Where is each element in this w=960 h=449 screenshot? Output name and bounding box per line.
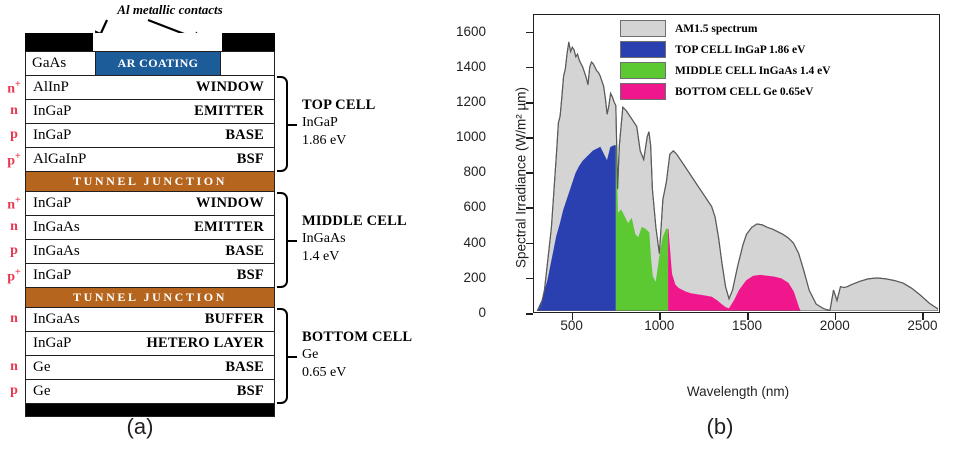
x-tick-label: 500 bbox=[542, 318, 602, 333]
x-axis-label: Wavelength (nm) bbox=[533, 384, 943, 399]
layer-row: AlGaInPBSF bbox=[25, 148, 275, 172]
cell-brace-tick bbox=[288, 124, 297, 126]
doping-label: n+ bbox=[4, 79, 24, 98]
layer-function: BASE bbox=[225, 359, 274, 376]
legend-item-am15: AM1.5 spectrum bbox=[620, 20, 831, 37]
legend-label-bottom-cell: BOTTOM CELL Ge 0.65eV bbox=[675, 86, 813, 98]
layer-material: InGaP bbox=[26, 267, 71, 284]
cell-material: Ge bbox=[302, 346, 412, 364]
x-tick-mark bbox=[747, 313, 749, 320]
x-tick-label: 1500 bbox=[717, 318, 777, 333]
cell-name: MIDDLE CELL bbox=[302, 213, 407, 230]
x-tick-mark bbox=[659, 313, 661, 320]
layer-row: InGaAsEMITTER bbox=[25, 216, 275, 240]
layer-material: Ge bbox=[26, 359, 51, 376]
gaas-ar-coating-row: GaAs AR COATING bbox=[25, 51, 275, 76]
panel-a-device-structure: Al metallic contacts GaAs AR COATING bbox=[0, 0, 470, 449]
cell-name: BOTTOM CELL bbox=[302, 329, 412, 346]
cell-bandgap: 0.65 eV bbox=[302, 364, 412, 382]
y-tick-mark bbox=[526, 67, 533, 69]
y-tick-label: 800 bbox=[426, 164, 486, 179]
y-tick-label: 400 bbox=[426, 235, 486, 250]
al-metallic-contacts-label: Al metallic contacts bbox=[60, 2, 280, 18]
layer-function: WINDOW bbox=[196, 195, 274, 212]
doping-label: p bbox=[4, 383, 24, 399]
layer-material: AlInP bbox=[26, 79, 69, 96]
y-tick-label: 0 bbox=[426, 305, 486, 320]
layer-material: InGaP bbox=[26, 103, 71, 120]
tunnel-junction-2: TUNNEL JUNCTION bbox=[25, 288, 275, 308]
x-tick-mark bbox=[572, 313, 574, 320]
gaas-cap-label: GaAs bbox=[26, 52, 96, 75]
legend-label-top-cell: TOP CELL InGaP 1.86 eV bbox=[675, 44, 805, 56]
doping-label: p bbox=[4, 243, 24, 259]
x-tick-mark bbox=[922, 313, 924, 320]
cell-brace-tick bbox=[288, 356, 297, 358]
legend-swatch-middle-cell bbox=[620, 62, 666, 79]
doping-label: p+ bbox=[4, 151, 24, 170]
metal-contact-left bbox=[25, 33, 93, 51]
layer-row: InGaPWINDOW bbox=[25, 192, 275, 216]
tunnel-junction-1: TUNNEL JUNCTION bbox=[25, 172, 275, 192]
layer-row: InGaAsBASE bbox=[25, 240, 275, 264]
cell-bandgap: 1.4 eV bbox=[302, 248, 407, 266]
caption-a: (a) bbox=[80, 414, 200, 440]
cell-material: InGaAs bbox=[302, 230, 407, 248]
cell-brace bbox=[277, 76, 288, 172]
cell-info-middle: MIDDLE CELLInGaAs1.4 eV bbox=[302, 213, 407, 266]
layer-row: GeBSF bbox=[25, 380, 275, 404]
y-tick-label: 1200 bbox=[426, 94, 486, 109]
legend-label-middle-cell: MIDDLE CELL InGaAs 1.4 eV bbox=[675, 65, 831, 77]
layer-function: HETERO LAYER bbox=[147, 335, 275, 352]
x-tick-label: 2000 bbox=[805, 318, 865, 333]
metal-contact-right bbox=[222, 33, 275, 51]
cell-brace bbox=[277, 308, 288, 404]
y-tick-mark bbox=[526, 313, 533, 315]
layer-row: InGaPHETERO LAYER bbox=[25, 332, 275, 356]
y-tick-label: 1400 bbox=[426, 59, 486, 74]
layer-function: BSF bbox=[237, 151, 274, 168]
layer-row: AlInPWINDOW bbox=[25, 76, 275, 100]
legend-swatch-am15 bbox=[620, 20, 666, 37]
legend-item-bottom-cell: BOTTOM CELL Ge 0.65eV bbox=[620, 83, 831, 100]
layer-material: InGaAs bbox=[26, 243, 80, 260]
y-tick-label: 200 bbox=[426, 270, 486, 285]
legend-item-middle-cell: MIDDLE CELL InGaAs 1.4 eV bbox=[620, 62, 831, 79]
layer-row: InGaAsBUFFER bbox=[25, 308, 275, 332]
layer-function: WINDOW bbox=[196, 79, 274, 96]
layer-row: InGaPBSF bbox=[25, 264, 275, 288]
ar-coating-label: AR COATING bbox=[96, 52, 221, 75]
legend-label-am15: AM1.5 spectrum bbox=[675, 23, 757, 35]
doping-label: p+ bbox=[4, 267, 24, 286]
caption-b: (b) bbox=[660, 414, 780, 440]
chart-legend: AM1.5 spectrum TOP CELL InGaP 1.86 eV MI… bbox=[620, 20, 831, 100]
contact-gap bbox=[93, 33, 222, 51]
ar-row-right-spacer bbox=[221, 52, 274, 75]
legend-item-top-cell: TOP CELL InGaP 1.86 eV bbox=[620, 41, 831, 58]
panel-b-spectral-chart: Spectral Irradiance (W/m² µm) 0200400600… bbox=[470, 0, 960, 449]
layer-function: EMITTER bbox=[194, 219, 274, 236]
doping-label: n+ bbox=[4, 195, 24, 214]
y-tick-mark bbox=[526, 278, 533, 280]
y-tick-mark bbox=[526, 172, 533, 174]
doping-label: n bbox=[4, 311, 24, 327]
y-tick-label: 1600 bbox=[426, 24, 486, 39]
cell-material: InGaP bbox=[302, 114, 375, 132]
layer-stack: GaAs AR COATING AlInPWINDOWInGaPEMITTERI… bbox=[25, 33, 275, 417]
doping-label: p bbox=[4, 127, 24, 143]
y-tick-mark bbox=[526, 207, 533, 209]
layer-row: InGaPEMITTER bbox=[25, 100, 275, 124]
layer-function: BASE bbox=[225, 243, 274, 260]
cell-brace bbox=[277, 192, 288, 288]
layer-row: GeBASE bbox=[25, 356, 275, 380]
cell-info-top: TOP CELLInGaP1.86 eV bbox=[302, 97, 375, 150]
legend-swatch-top-cell bbox=[620, 41, 666, 58]
layer-function: BSF bbox=[237, 267, 274, 284]
y-tick-mark bbox=[526, 137, 533, 139]
y-tick-mark bbox=[526, 32, 533, 34]
y-tick-mark bbox=[526, 243, 533, 245]
metal-contacts-row bbox=[25, 33, 275, 51]
layer-material: InGaP bbox=[26, 127, 71, 144]
y-axis-label: Spectral Irradiance (W/m² µm) bbox=[514, 48, 529, 308]
legend-swatch-bottom-cell bbox=[620, 83, 666, 100]
layer-function: BUFFER bbox=[205, 311, 274, 328]
layer-function: BASE bbox=[225, 127, 274, 144]
layer-function: EMITTER bbox=[194, 103, 274, 120]
doping-label: n bbox=[4, 359, 24, 375]
layer-row: InGaPBASE bbox=[25, 124, 275, 148]
x-tick-mark bbox=[835, 313, 837, 320]
doping-label: n bbox=[4, 103, 24, 119]
layer-material: InGaAs bbox=[26, 219, 80, 236]
y-tick-mark bbox=[526, 102, 533, 104]
layer-material: InGaP bbox=[26, 335, 71, 352]
layer-function: BSF bbox=[237, 383, 274, 400]
layer-material: AlGaInP bbox=[26, 151, 86, 168]
y-tick-label: 1000 bbox=[426, 129, 486, 144]
cell-name: TOP CELL bbox=[302, 97, 375, 114]
cell-brace-tick bbox=[288, 240, 297, 242]
cell-info-bottom: BOTTOM CELLGe0.65 eV bbox=[302, 329, 412, 382]
layer-material: Ge bbox=[26, 383, 51, 400]
x-tick-label: 1000 bbox=[629, 318, 689, 333]
x-tick-label: 2500 bbox=[892, 318, 952, 333]
doping-label: n bbox=[4, 219, 24, 235]
layer-material: InGaAs bbox=[26, 311, 80, 328]
layer-material: InGaP bbox=[26, 195, 71, 212]
cell-bandgap: 1.86 eV bbox=[302, 132, 375, 150]
y-tick-label: 600 bbox=[426, 199, 486, 214]
